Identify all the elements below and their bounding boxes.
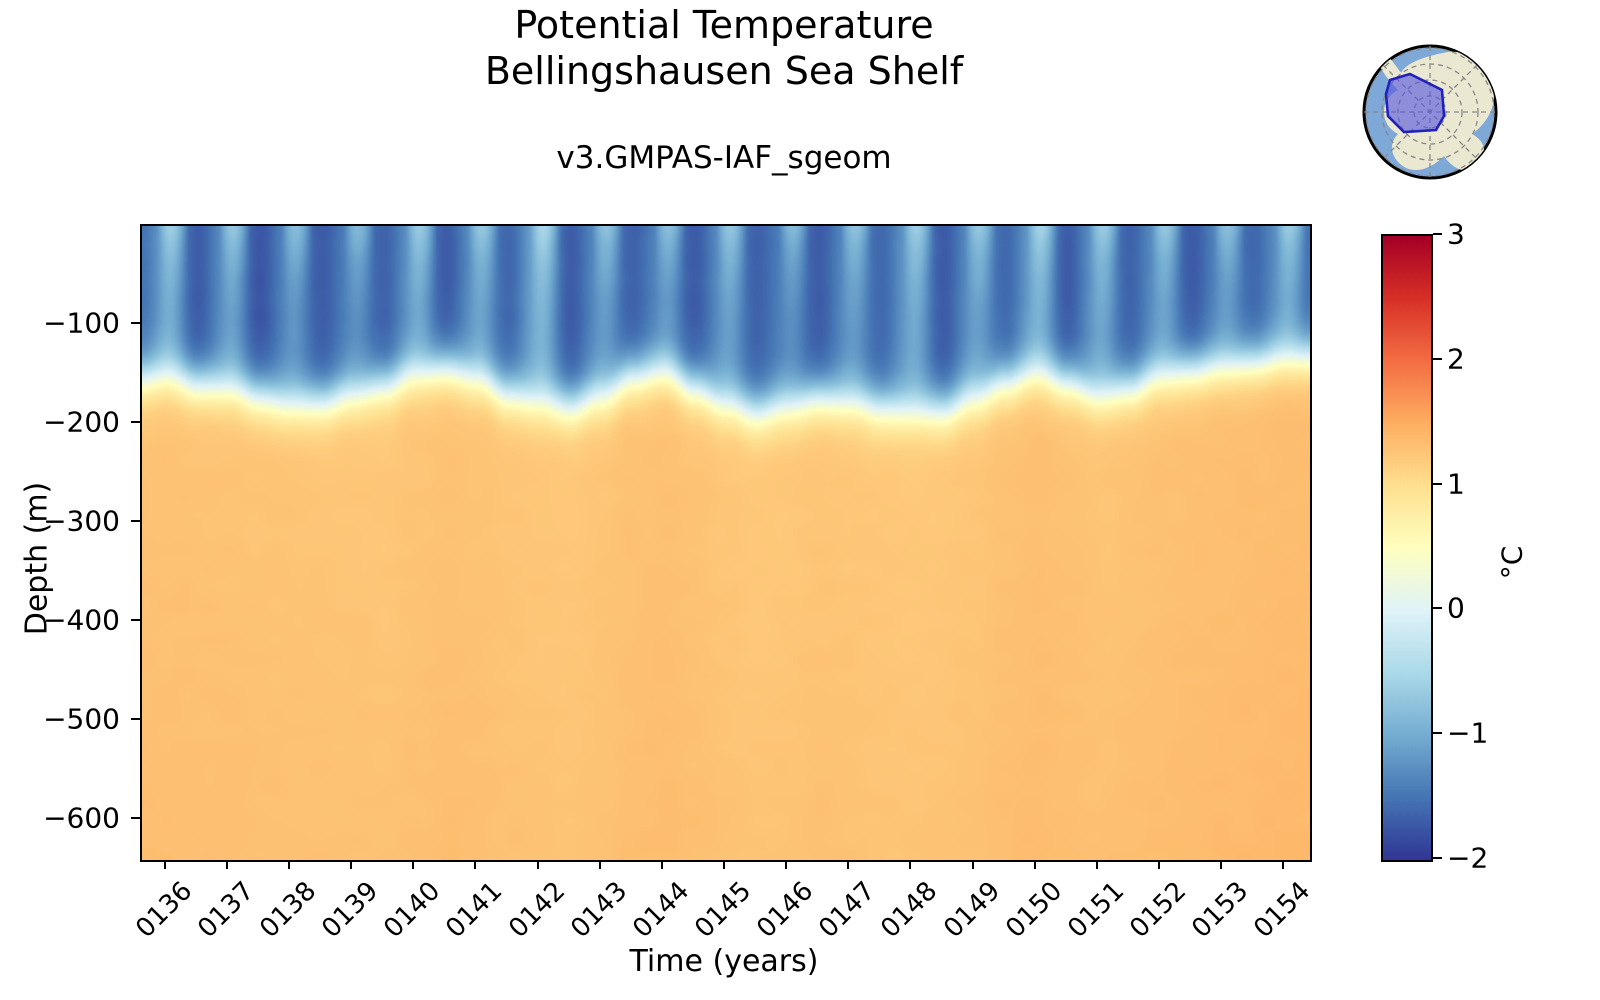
y-tick-label: −500 bbox=[0, 703, 120, 736]
colorbar-tick-label: −2 bbox=[1447, 842, 1488, 875]
colorbar-tick-label: 2 bbox=[1447, 342, 1465, 375]
figure-canvas: Potential Temperature Bellingshausen Sea… bbox=[0, 0, 1600, 1000]
colorbar-label: °C bbox=[1496, 483, 1529, 643]
colorbar-tick-mark bbox=[1433, 233, 1442, 235]
x-tick-mark bbox=[1220, 860, 1222, 869]
y-axis-label: Depth (m) bbox=[20, 279, 55, 839]
x-tick-mark bbox=[785, 860, 787, 869]
figure-subtitle: v3.GMPAS-IAF_sgeom bbox=[140, 140, 1308, 176]
y-tick-mark bbox=[131, 718, 140, 720]
colorbar-tick-mark bbox=[1433, 358, 1442, 360]
y-tick-mark bbox=[131, 619, 140, 621]
antarctica-locator-map bbox=[1352, 18, 1508, 214]
y-tick-label: −400 bbox=[0, 604, 120, 637]
x-tick-mark bbox=[1034, 860, 1036, 869]
x-tick-mark bbox=[1282, 860, 1284, 869]
colorbar-tick-mark bbox=[1433, 483, 1442, 485]
colorbar-tick-mark bbox=[1433, 607, 1442, 609]
colorbar-gradient bbox=[1383, 236, 1431, 860]
x-tick-mark bbox=[847, 860, 849, 869]
x-tick-mark bbox=[474, 860, 476, 869]
y-tick-mark bbox=[131, 421, 140, 423]
island-shape-2 bbox=[1482, 175, 1490, 185]
x-tick-mark bbox=[288, 860, 290, 869]
x-tick-mark bbox=[909, 860, 911, 869]
x-tick-mark bbox=[1158, 860, 1160, 869]
x-tick-mark bbox=[723, 860, 725, 869]
colorbar-tick-mark bbox=[1433, 857, 1442, 859]
figure-title-line-2: Bellingshausen Sea Shelf bbox=[140, 48, 1308, 94]
x-tick-mark bbox=[537, 860, 539, 869]
hovmoller-heatmap bbox=[142, 226, 1310, 860]
figure-title-line-1: Potential Temperature bbox=[140, 2, 1308, 48]
y-tick-mark bbox=[131, 322, 140, 324]
hovmoller-plot-area bbox=[140, 224, 1312, 862]
colorbar-tick-label: −1 bbox=[1447, 717, 1488, 750]
colorbar-tick-label: 3 bbox=[1447, 218, 1465, 251]
colorbar bbox=[1381, 234, 1433, 862]
colorbar-tick-label: 0 bbox=[1447, 592, 1465, 625]
x-tick-mark bbox=[599, 860, 601, 869]
colorbar-tick-label: 1 bbox=[1447, 467, 1465, 500]
x-tick-mark bbox=[972, 860, 974, 869]
y-tick-label: −200 bbox=[0, 406, 120, 439]
x-tick-mark bbox=[350, 860, 352, 869]
y-tick-label: −300 bbox=[0, 505, 120, 538]
x-tick-mark bbox=[164, 860, 166, 869]
x-tick-mark bbox=[412, 860, 414, 869]
colorbar-tick-mark bbox=[1433, 732, 1442, 734]
y-tick-mark bbox=[131, 817, 140, 819]
figure-title: Potential Temperature Bellingshausen Sea… bbox=[140, 2, 1308, 94]
y-tick-label: −100 bbox=[0, 307, 120, 340]
x-axis-label: Time (years) bbox=[140, 944, 1308, 979]
y-tick-mark bbox=[131, 520, 140, 522]
y-tick-label: −600 bbox=[0, 802, 120, 835]
island-shape bbox=[1371, 47, 1382, 57]
x-tick-mark bbox=[1096, 860, 1098, 869]
x-tick-mark bbox=[226, 860, 228, 869]
x-tick-mark bbox=[661, 860, 663, 869]
